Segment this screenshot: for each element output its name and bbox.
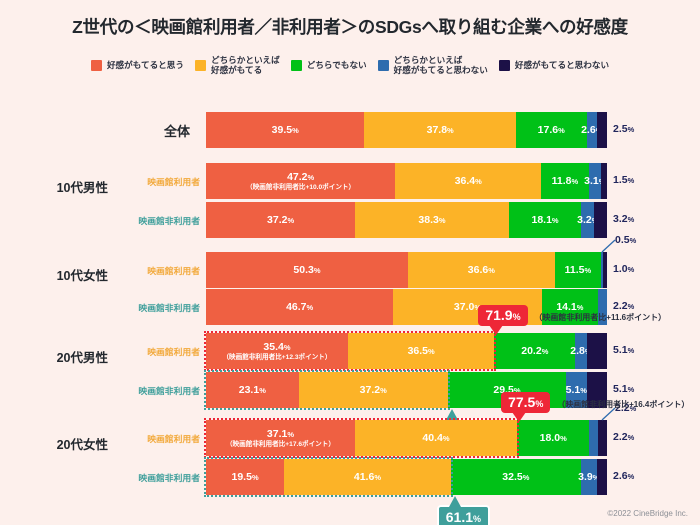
bar-overall: 39.5%37.8%17.6%2.6% [206,112,607,148]
segment-value-label: 19.5% [232,471,259,483]
segment-value-label: 36.4% [455,175,482,187]
bar-segment-1: 23.1% [206,372,299,408]
segment-value-label: 36.5% [408,345,435,357]
bar-segment-2: 36.5% [348,333,494,369]
row-label-teens-male-nonuser: 映画館非利用者 [116,214,200,227]
outside-value-teens-male-nonuser: 3.2% [613,213,634,225]
segment-value-label: 37.1%（映画館非利用者比+17.6ポイント） [226,428,335,449]
bar-segment-3: 11.5% [555,252,601,288]
stacked-bar-chart: 10代男性10代女性20代男性20代女性全体39.5%37.8%17.6%2.6… [0,0,700,525]
callout-twenties-female-user: 77.5% [501,392,550,413]
bar-segment-5 [598,420,607,456]
bar-segment-2: 37.8% [364,112,516,148]
bar-segment-3: 18.0% [517,420,589,456]
segment-value-label: 46.7% [286,301,313,313]
bar-segment-1: 37.1%（映画館非利用者比+17.6ポイント） [206,420,355,456]
bar-segment-4 [589,420,598,456]
bar-segment-3: 32.5% [451,459,581,495]
bar-segment-2: 37.2% [299,372,448,408]
outside-value-twenties-female-nonuser: 2.6% [613,470,634,482]
bar-segment-3: 17.6% [516,112,587,148]
bar-segment-3: 20.2% [494,333,575,369]
infographic-page: Z世代の＜映画館利用者／非利用者＞のSDGsへ取り組む企業への好感度 好感がもて… [0,0,700,525]
copyright-footer: ©2022 CineBridge Inc. [607,509,688,518]
segment-value-label: 40.4% [422,432,449,444]
bar-segment-1: 39.5% [206,112,364,148]
segment-value-label: 23.1% [239,384,266,396]
group-label-3: 20代女性 [22,434,108,453]
bar-teens-male-user: 47.2%（映画館非利用者比+10.0ポイント）36.4%11.8%3.1% [206,163,607,199]
bar-segment-5 [597,112,607,148]
bar-teens-male-nonuser: 37.2%38.3%18.1%3.2% [206,202,607,238]
outside-value-teens-female-user: 1.0% [613,263,634,275]
bar-segment-3: 18.1% [509,202,582,238]
bar-segment-5 [587,333,607,369]
group-label-1: 10代女性 [22,265,108,284]
callout-note-twenties-female-user: （映画館非利用者比+16.4ポイント） [557,399,689,410]
row-label-twenties-male-user: 映画館利用者 [116,345,200,358]
bar-segment-4: 3.1% [589,163,601,199]
callout-twenties-male-user: 71.9% [478,305,527,326]
bar-segment-3: 11.8% [541,163,588,199]
group-label-0: 10代男性 [22,177,108,196]
bar-segment-5 [597,459,607,495]
bar-segment-5 [594,202,607,238]
segment-value-label: 17.6% [538,124,565,136]
outside-value-twenties-male-nonuser: 5.1% [613,383,634,395]
segment-value-label: 18.0% [540,432,567,444]
bar-segment-1: 37.2% [206,202,355,238]
bar-segment-4: 2.6% [587,112,597,148]
segment-value-label: 35.4%（映画館非利用者比+12.3ポイント） [222,341,331,362]
row-label-twenties-female-nonuser: 映画館非利用者 [116,471,200,484]
bar-segment-4: 3.9% [581,459,597,495]
segment-value-label: 37.2% [267,214,294,226]
bar-segment-1: 35.4%（映画館非利用者比+12.3ポイント） [206,333,348,369]
row-label-teens-female-nonuser: 映画館非利用者 [116,301,200,314]
bar-segment-1: 19.5% [206,459,284,495]
bar-segment-4: 2.8% [575,333,586,369]
bar-segment-2: 38.3% [355,202,509,238]
segment-value-label: 41.6% [354,471,381,483]
segment-value-label: 18.1% [531,214,558,226]
segment-value-label: 36.6% [468,264,495,276]
row-label-twenties-male-nonuser: 映画館非利用者 [116,384,200,397]
segment-value-label: 37.2% [360,384,387,396]
segment-value-label: 37.0% [454,301,481,313]
segment-value-label: 50.3% [293,264,320,276]
bar-segment-1: 50.3% [206,252,408,288]
segment-value-label: 20.2% [521,345,548,357]
outside-value-overall: 2.5% [613,123,634,135]
row-label-teens-female-user: 映画館利用者 [116,264,200,277]
segment-value-label: 32.5% [502,471,529,483]
row-label-teens-male-user: 映画館利用者 [116,175,200,188]
bar-segment-1: 46.7% [206,289,393,325]
bar-twenties-male-user: 35.4%（映画館非利用者比+12.3ポイント）36.5%20.2%2.8% [206,333,607,369]
outside-value-teens-female-nonuser: 2.2% [613,300,634,312]
bar-segment-2: 36.4% [395,163,541,199]
leader-value-teens-female-user: 0.5% [615,234,636,246]
bar-segment-5 [603,252,607,288]
bar-teens-female-user: 50.3%36.6%11.5% [206,252,607,288]
callout-twenties-female-nonuser: 61.1% [437,505,490,525]
group-label-2: 20代男性 [22,347,108,366]
segment-value-label: 11.5% [565,264,592,276]
segment-value-label: 5.1% [566,384,587,396]
outside-value-twenties-female-user: 2.2% [613,431,634,443]
segment-value-label: 38.3% [418,214,445,226]
bar-twenties-female-nonuser: 19.5%41.6%32.5%3.9% [206,459,607,495]
row-label-twenties-female-user: 映画館利用者 [116,432,200,445]
bar-segment-2: 36.6% [408,252,555,288]
outside-value-teens-male-user: 1.5% [613,174,634,186]
outside-value-twenties-male-user: 5.1% [613,344,634,356]
bar-segment-1: 47.2%（映画館非利用者比+10.0ポイント） [206,163,395,199]
bar-segment-2: 40.4% [355,420,517,456]
bar-twenties-female-user: 37.1%（映画館非利用者比+17.6ポイント）40.4%18.0% [206,420,607,456]
segment-value-label: 47.2%（映画館非利用者比+10.0ポイント） [246,171,355,192]
segment-value-label: 11.8% [552,175,579,187]
segment-value-label: 37.8% [427,124,454,136]
segment-value-label: 39.5% [272,124,299,136]
bar-segment-5 [601,163,607,199]
bar-segment-2: 41.6% [284,459,451,495]
row-label-overall: 全体 [60,121,190,140]
bar-segment-4: 3.2% [581,202,594,238]
callout-note-twenties-male-user: （映画館非利用者比+11.6ポイント） [534,312,666,323]
